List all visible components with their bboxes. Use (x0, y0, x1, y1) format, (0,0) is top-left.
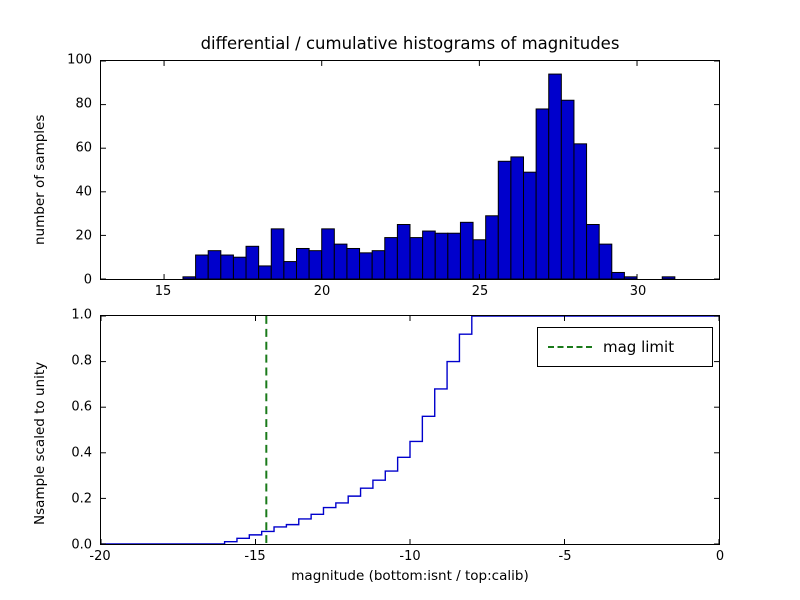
histogram-bar (271, 229, 284, 279)
histogram-bar (360, 253, 373, 279)
histogram-bar (460, 222, 473, 279)
bottom-xtick--5: -5 (559, 549, 572, 564)
histogram-bar (284, 262, 297, 279)
histogram-bar (574, 144, 587, 279)
top-xtick-25: 25 (472, 284, 489, 299)
top-xtick-20: 20 (314, 284, 331, 299)
top-ytick-0: 0 (58, 273, 92, 288)
histogram-bar (473, 240, 486, 279)
histogram-bar (309, 251, 322, 279)
histogram-bar (524, 172, 537, 279)
figure-canvas: differential / cumulative histograms of … (0, 0, 800, 600)
histogram-bar (233, 257, 246, 279)
histogram-bar (322, 229, 335, 279)
top-xtick-30: 30 (630, 284, 647, 299)
histogram-bar (612, 272, 625, 279)
top-ytick-20: 20 (58, 229, 92, 244)
bottom-xtick-0: 0 (716, 549, 724, 564)
histogram-bar (511, 157, 524, 279)
legend-dashed-line-icon (548, 346, 592, 348)
bottom-ytick-10: 1.0 (50, 308, 92, 323)
histogram-bar (347, 248, 360, 279)
bottom-ytick-02: 0.2 (50, 492, 92, 507)
top-ytick-100: 100 (50, 53, 92, 68)
bottom-ytick-0: 0.0 (50, 538, 92, 553)
bottom-xtick--15: -15 (244, 549, 265, 564)
top-ytick-40: 40 (58, 185, 92, 200)
histogram-bar (221, 255, 234, 279)
bottom-xtick--20: -20 (89, 549, 110, 564)
histogram-bar (334, 244, 347, 279)
bottom-ylabel: Nsample scaled to unity (32, 362, 48, 525)
bottom-ytick-04: 0.4 (50, 446, 92, 461)
histogram-bar (561, 100, 574, 279)
chart-title: differential / cumulative histograms of … (100, 34, 720, 53)
histogram-bar (372, 251, 385, 279)
differential-histogram-axes (100, 60, 720, 280)
histogram-bar (397, 225, 410, 280)
histogram-bar (448, 233, 461, 279)
legend: mag limit (537, 327, 713, 367)
histogram-bar (549, 74, 562, 279)
histogram-bar (208, 251, 221, 279)
histogram-bar (196, 255, 209, 279)
bottom-xtick--10: -10 (399, 549, 420, 564)
legend-label-mag-limit: mag limit (603, 338, 674, 356)
histogram-bar (183, 277, 196, 279)
histogram-bar (587, 225, 600, 280)
histogram-bar (536, 109, 549, 279)
top-xtick-15: 15 (155, 284, 172, 299)
top-ytick-80: 80 (58, 97, 92, 112)
histogram-bar (435, 233, 448, 279)
histogram-bar (624, 277, 637, 279)
histogram-bar (662, 277, 675, 279)
bottom-ytick-08: 0.8 (50, 354, 92, 369)
histogram-bar (599, 244, 612, 279)
histogram-bar (410, 238, 423, 279)
bottom-ytick-06: 0.6 (50, 400, 92, 415)
histogram-bar (296, 248, 309, 279)
differential-histogram-plot (101, 61, 719, 279)
top-ytick-60: 60 (58, 141, 92, 156)
histogram-bar (259, 266, 272, 279)
histogram-bar (385, 238, 398, 279)
histogram-bar (498, 161, 511, 279)
histogram-bar (246, 246, 259, 279)
top-ylabel: number of samples (32, 115, 48, 245)
histogram-bar (423, 231, 436, 279)
bottom-xlabel: magnitude (bottom:isnt / top:calib) (100, 568, 720, 584)
histogram-bar (486, 216, 499, 279)
